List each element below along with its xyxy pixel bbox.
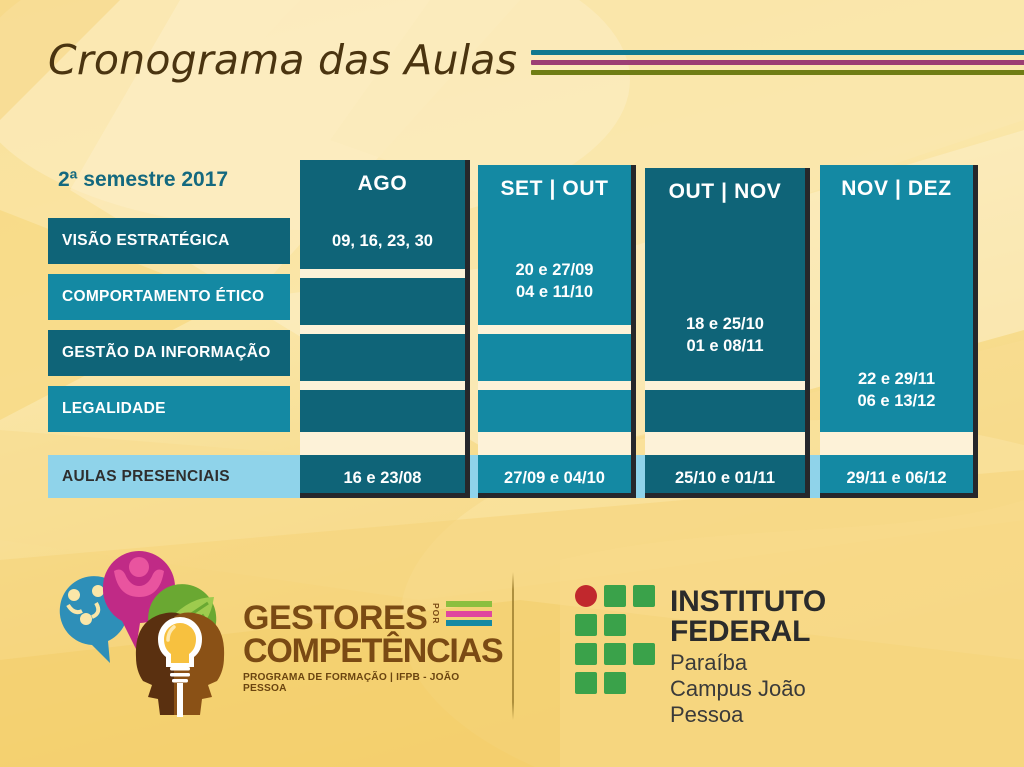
cell-line-2: 01 e 08/11 <box>645 335 805 357</box>
column-nov-dez: NOV | DEZ 22 e 29/11 06 e 13/12 29/11 e … <box>820 165 978 498</box>
cell-ago-visao: 09, 16, 23, 30 <box>300 230 465 252</box>
ifpb-square <box>633 643 655 665</box>
cell-nov-dez-dates: 22 e 29/11 06 e 13/12 <box>820 368 973 413</box>
cell-out-nov-presencial: 25/10 e 01/11 <box>645 467 805 489</box>
ifpb-grid-mark <box>575 585 659 697</box>
footer-divider <box>512 572 514 720</box>
bar-green <box>446 601 492 607</box>
row-label-text: COMPORTAMENTO ÉTICO <box>62 288 264 306</box>
row-separator <box>300 381 465 390</box>
cell-line-1: 18 e 25/10 <box>645 313 805 335</box>
gestores-competencias-logo: GESTORES COMPETÊNCIAS PROGRAMA DE FORMAÇ… <box>48 545 468 715</box>
ifpb-wordmark: INSTITUTO FEDERAL Paraíba Campus João Pe… <box>670 587 826 728</box>
row-separator <box>300 432 465 455</box>
row-separator <box>820 432 973 455</box>
ifpb-red-circle <box>575 585 597 607</box>
ifpb-square <box>604 585 626 607</box>
cell-set-out-presencial: 27/09 e 04/10 <box>478 467 631 489</box>
ifpb-square <box>575 643 597 665</box>
ifpb-line1: INSTITUTO FEDERAL <box>670 587 826 647</box>
gestores-line2: COMPETÊNCIAS <box>243 634 503 669</box>
column-set-out: SET | OUT 20 e 27/09 04 e 11/10 27/09 e … <box>478 165 636 498</box>
cell-line-1: 20 e 27/09 <box>478 259 631 281</box>
cell-out-nov-dates: 18 e 25/10 01 e 08/11 <box>645 313 805 358</box>
row-label-text: LEGALIDADE <box>62 400 166 418</box>
ifpb-square <box>575 672 597 694</box>
column-header-nov-dez: NOV | DEZ <box>820 165 973 213</box>
schedule-table: 2ª semestre 2017 VISÃO ESTRATÉGICA COMPO… <box>0 0 1024 520</box>
bar-pink <box>446 611 492 617</box>
ifpb-square <box>575 614 597 636</box>
gestores-bar-decoration <box>446 601 492 626</box>
cell-line-2: 04 e 11/10 <box>478 281 631 303</box>
row-label-text: AULAS PRESENCIAIS <box>62 468 230 486</box>
cell-line-2: 06 e 13/12 <box>820 390 973 412</box>
bar-teal <box>446 620 492 626</box>
row-label-visao-estrategica: VISÃO ESTRATÉGICA <box>48 218 290 264</box>
column-header-out-nov: OUT | NOV <box>645 168 805 216</box>
gestores-subtitle: PROGRAMA DE FORMAÇÃO | IFPB - JOÃO PESSO… <box>243 672 503 694</box>
gestores-por-label: POR <box>431 603 441 624</box>
ifpb-square <box>604 643 626 665</box>
row-label-aulas-presenciais: AULAS PRESENCIAIS <box>48 455 313 498</box>
row-label-comportamento-etico: COMPORTAMENTO ÉTICO <box>48 274 290 320</box>
cell-ago-presencial: 16 e 23/08 <box>300 467 465 489</box>
semester-label: 2ª semestre 2017 <box>58 168 228 192</box>
cell-line-1: 22 e 29/11 <box>820 368 973 390</box>
row-separator <box>478 381 631 390</box>
row-separator <box>645 381 805 390</box>
column-out-nov: OUT | NOV 18 e 25/10 01 e 08/11 25/10 e … <box>645 168 810 498</box>
row-separator <box>645 432 805 455</box>
row-separator <box>300 325 465 334</box>
column-header-set-out: SET | OUT <box>478 165 631 213</box>
row-label-text: GESTÃO DA INFORMAÇÃO <box>62 344 271 362</box>
ifpb-square <box>604 614 626 636</box>
column-ago: AGO 09, 16, 23, 30 16 e 23/08 <box>300 160 470 498</box>
ifpb-line3: Campus João Pessoa <box>670 676 826 728</box>
row-label-text: VISÃO ESTRATÉGICA <box>62 232 230 250</box>
row-label-legalidade: LEGALIDADE <box>48 386 290 432</box>
cell-set-out-dates: 20 e 27/09 04 e 11/10 <box>478 259 631 304</box>
row-label-gestao-da-informacao: GESTÃO DA INFORMAÇÃO <box>48 330 290 376</box>
row-separator <box>300 269 465 278</box>
row-separator <box>478 432 631 455</box>
row-separator <box>478 325 631 334</box>
column-header-ago: AGO <box>300 160 465 208</box>
ifpb-line2: Paraíba <box>670 650 826 676</box>
cell-nov-dez-presencial: 29/11 e 06/12 <box>820 467 973 489</box>
ifpb-square <box>604 672 626 694</box>
ifpb-square <box>633 585 655 607</box>
